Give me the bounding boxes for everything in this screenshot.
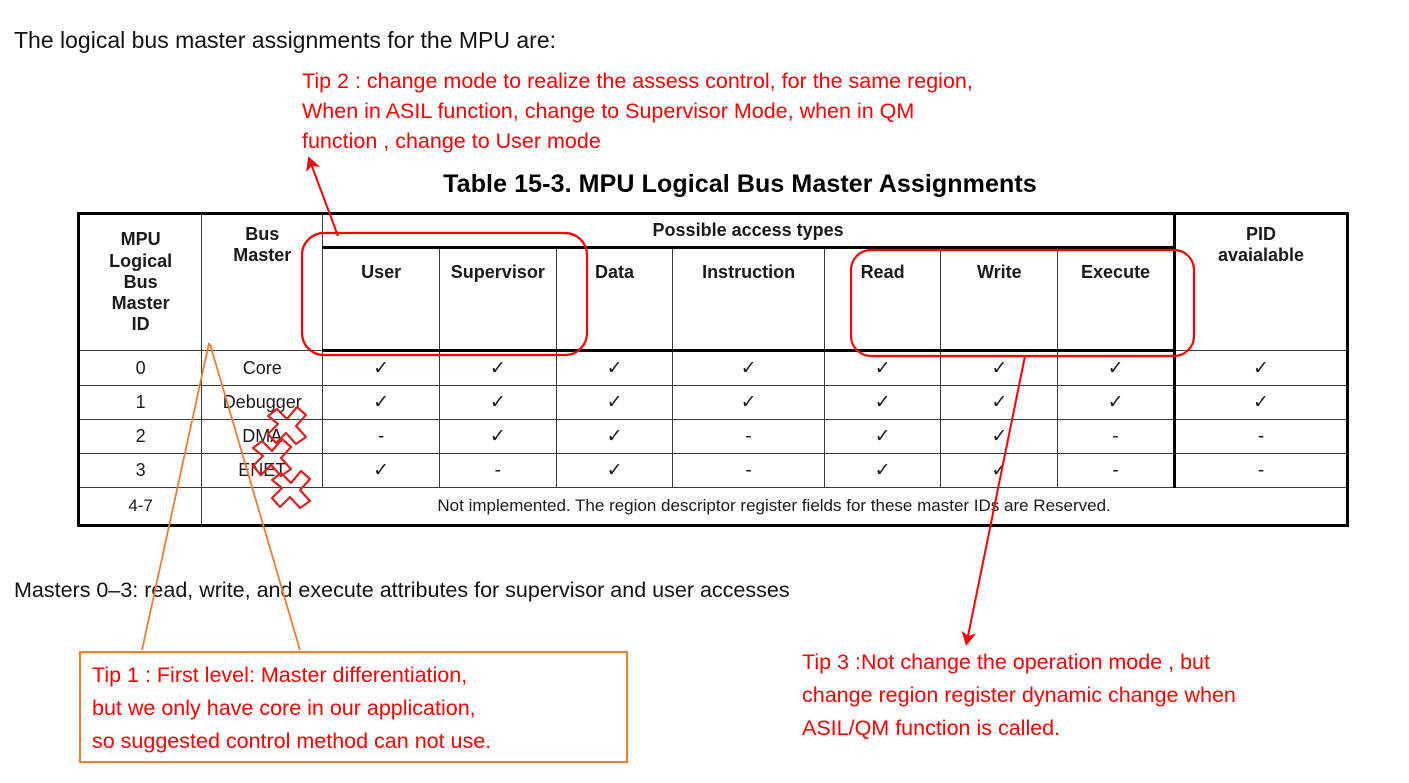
tip1-callout-box: Tip 1 : First level: Master differentiat… xyxy=(79,651,628,763)
cell-supervisor: ✓ xyxy=(439,386,556,420)
cell-read: ✓ xyxy=(824,386,941,420)
cell-id: 2 xyxy=(79,420,202,454)
header-possible-access-types: Possible access types xyxy=(323,214,1175,248)
cell-user: ✓ xyxy=(323,454,440,488)
cell-bus-master: Core xyxy=(202,351,323,386)
cell-read: ✓ xyxy=(824,351,941,386)
tip2-line-1: Tip 2 : change mode to realize the asses… xyxy=(302,66,1162,96)
table-header-top-row: MPU Logical Bus Master ID Bus Master Pos… xyxy=(79,214,1348,248)
header-user: User xyxy=(323,248,440,351)
header-bus-master-line-1: Bus xyxy=(202,224,322,245)
cell-id: 0 xyxy=(79,351,202,386)
cell-pid: ✓ xyxy=(1174,386,1347,420)
tip3-line-2: change region register dynamic change wh… xyxy=(802,679,1382,712)
header-pid-line-1: PID xyxy=(1176,224,1346,245)
cell-write: ✓ xyxy=(941,420,1058,454)
header-mpu-id-line-4: Master xyxy=(80,293,201,314)
cell-instruction: - xyxy=(673,420,824,454)
tip3-line-3: ASIL/QM function is called. xyxy=(802,712,1382,745)
cell-write: ✓ xyxy=(941,454,1058,488)
cell-execute: ✓ xyxy=(1058,386,1175,420)
tip2-line-3: function , change to User mode xyxy=(302,126,1162,156)
cell-supervisor: - xyxy=(439,454,556,488)
cell-data: ✓ xyxy=(556,386,673,420)
cell-write: ✓ xyxy=(941,386,1058,420)
table-caption: Table 15-3. MPU Logical Bus Master Assig… xyxy=(190,170,1290,199)
tip3-line-1: Tip 3 :Not change the operation mode , b… xyxy=(802,646,1382,679)
cell-user: - xyxy=(323,420,440,454)
header-read: Read xyxy=(824,248,941,351)
cell-execute: - xyxy=(1058,454,1175,488)
header-bus-master-line-2: Master xyxy=(202,245,322,266)
tip2-annotation: Tip 2 : change mode to realize the asses… xyxy=(302,66,1162,156)
cell-supervisor: ✓ xyxy=(439,351,556,386)
cell-not-implemented-note: Not implemented. The region descriptor r… xyxy=(202,488,1348,526)
cell-read: ✓ xyxy=(824,420,941,454)
cell-user: ✓ xyxy=(323,351,440,386)
table-footer-row: 4-7 Not implemented. The region descript… xyxy=(79,488,1348,526)
header-mpu-id-line-3: Bus xyxy=(80,272,201,293)
intro-paragraph: The logical bus master assignments for t… xyxy=(14,27,556,53)
tip2-line-2: When in ASIL function, change to Supervi… xyxy=(302,96,1162,126)
cell-data: ✓ xyxy=(556,454,673,488)
table-row: 1 Debugger ✓ ✓ ✓ ✓ ✓ ✓ ✓ ✓ xyxy=(79,386,1348,420)
header-instruction: Instruction xyxy=(673,248,824,351)
header-write: Write xyxy=(941,248,1058,351)
cell-id-range: 4-7 xyxy=(79,488,202,526)
cell-bus-master: ENET xyxy=(202,454,323,488)
tip1-line-2: but we only have core in our application… xyxy=(92,692,615,725)
cell-id: 1 xyxy=(79,386,202,420)
cell-instruction: ✓ xyxy=(673,351,824,386)
cell-data: ✓ xyxy=(556,420,673,454)
cell-write: ✓ xyxy=(941,351,1058,386)
header-mpu-id-line-1: MPU xyxy=(80,229,201,250)
cell-instruction: - xyxy=(673,454,824,488)
header-bus-master: Bus Master xyxy=(202,214,323,351)
cell-pid: - xyxy=(1174,454,1347,488)
header-mpu-id: MPU Logical Bus Master ID xyxy=(79,214,202,351)
table-row: 2 DMA - ✓ ✓ - ✓ ✓ - - xyxy=(79,420,1348,454)
header-pid-line-2: avaialable xyxy=(1176,245,1346,266)
mpu-bus-master-table: MPU Logical Bus Master ID Bus Master Pos… xyxy=(77,212,1349,527)
cell-id: 3 xyxy=(79,454,202,488)
cell-supervisor: ✓ xyxy=(439,420,556,454)
header-mpu-id-line-2: Logical xyxy=(80,251,201,272)
tip1-line-3: so suggested control method can not use. xyxy=(92,725,615,758)
header-mpu-id-line-5: ID xyxy=(80,314,201,335)
cell-pid: ✓ xyxy=(1174,351,1347,386)
cell-user: ✓ xyxy=(323,386,440,420)
masters-summary-line: Masters 0–3: read, write, and execute at… xyxy=(14,578,790,603)
header-supervisor: Supervisor xyxy=(439,248,556,351)
header-execute: Execute xyxy=(1058,248,1175,351)
cell-pid: - xyxy=(1174,420,1347,454)
cell-bus-master: Debugger xyxy=(202,386,323,420)
tip1-line-1: Tip 1 : First level: Master differentiat… xyxy=(92,659,615,692)
header-data: Data xyxy=(556,248,673,351)
header-pid-available: PID avaialable xyxy=(1174,214,1347,351)
cell-instruction: ✓ xyxy=(673,386,824,420)
cell-execute: ✓ xyxy=(1058,351,1175,386)
cell-read: ✓ xyxy=(824,454,941,488)
cell-bus-master: DMA xyxy=(202,420,323,454)
cell-data: ✓ xyxy=(556,351,673,386)
table-row: 3 ENET ✓ - ✓ - ✓ ✓ - - xyxy=(79,454,1348,488)
table-row: 0 Core ✓ ✓ ✓ ✓ ✓ ✓ ✓ ✓ xyxy=(79,351,1348,386)
tip3-annotation: Tip 3 :Not change the operation mode , b… xyxy=(802,646,1382,745)
cell-execute: - xyxy=(1058,420,1175,454)
